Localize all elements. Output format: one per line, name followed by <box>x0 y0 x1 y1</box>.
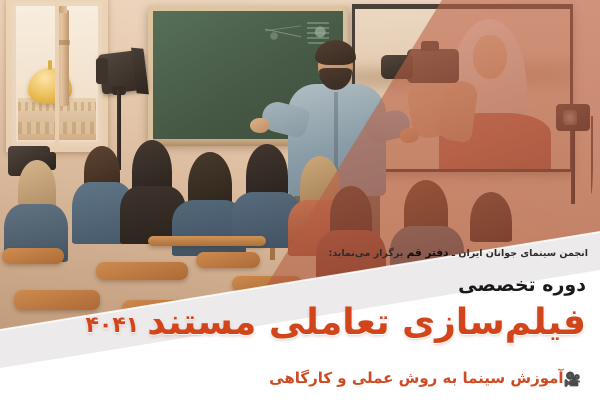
instructor-hand-left <box>400 128 419 143</box>
dslr-camera-viewfinder <box>421 41 439 51</box>
kicker-label: دوره تخصصی <box>286 276 586 295</box>
minaret-top <box>58 6 67 13</box>
classroom-desk-top <box>148 236 266 246</box>
course-poster: انجمن سینمای جوانان ایران ـ دفتر قم برگز… <box>0 0 600 400</box>
studio-light-right-stand <box>571 130 575 204</box>
organizer-office: دفتر قم <box>407 247 449 259</box>
dslr-camera-body <box>407 49 459 83</box>
poster-tagline: 🎥آموزش سینما به روش عملی و کارگاهی <box>0 371 586 387</box>
photographer-face <box>473 35 507 79</box>
chalk-writing <box>265 22 301 42</box>
studio-light-lens <box>96 58 108 84</box>
classroom-chair <box>96 262 188 280</box>
poster-headline: فیلم‌سازی تعاملی مستند۱۴۰۴ <box>0 304 586 343</box>
organizer-line: انجمن سینمای جوانان ایران ـ دفتر قم برگز… <box>168 248 588 259</box>
studio-light-right-cord <box>588 116 593 194</box>
tagline-text: آموزش سینما به روش عملی و کارگاهی <box>269 369 563 387</box>
movie-camera-icon: 🎥 <box>564 373 586 387</box>
organizer-suffix: برگزار می‌نماید: <box>329 248 407 259</box>
studio-light-right <box>556 104 590 131</box>
headline-year: ۱۴۰۴ <box>86 313 148 338</box>
headline-text: فیلم‌سازی تعاملی مستند <box>147 302 586 343</box>
classroom-chair <box>2 248 64 264</box>
chalk-leaf-logo-icon <box>307 20 329 44</box>
instructor-hand-right <box>250 118 269 133</box>
dslr-camera-lens <box>381 55 413 79</box>
window-mullion <box>55 2 59 146</box>
window-shrine-view <box>6 0 108 152</box>
studio-light-stand <box>117 90 121 170</box>
organizer-prefix: انجمن سینمای جوانان ایران ـ <box>448 248 588 259</box>
